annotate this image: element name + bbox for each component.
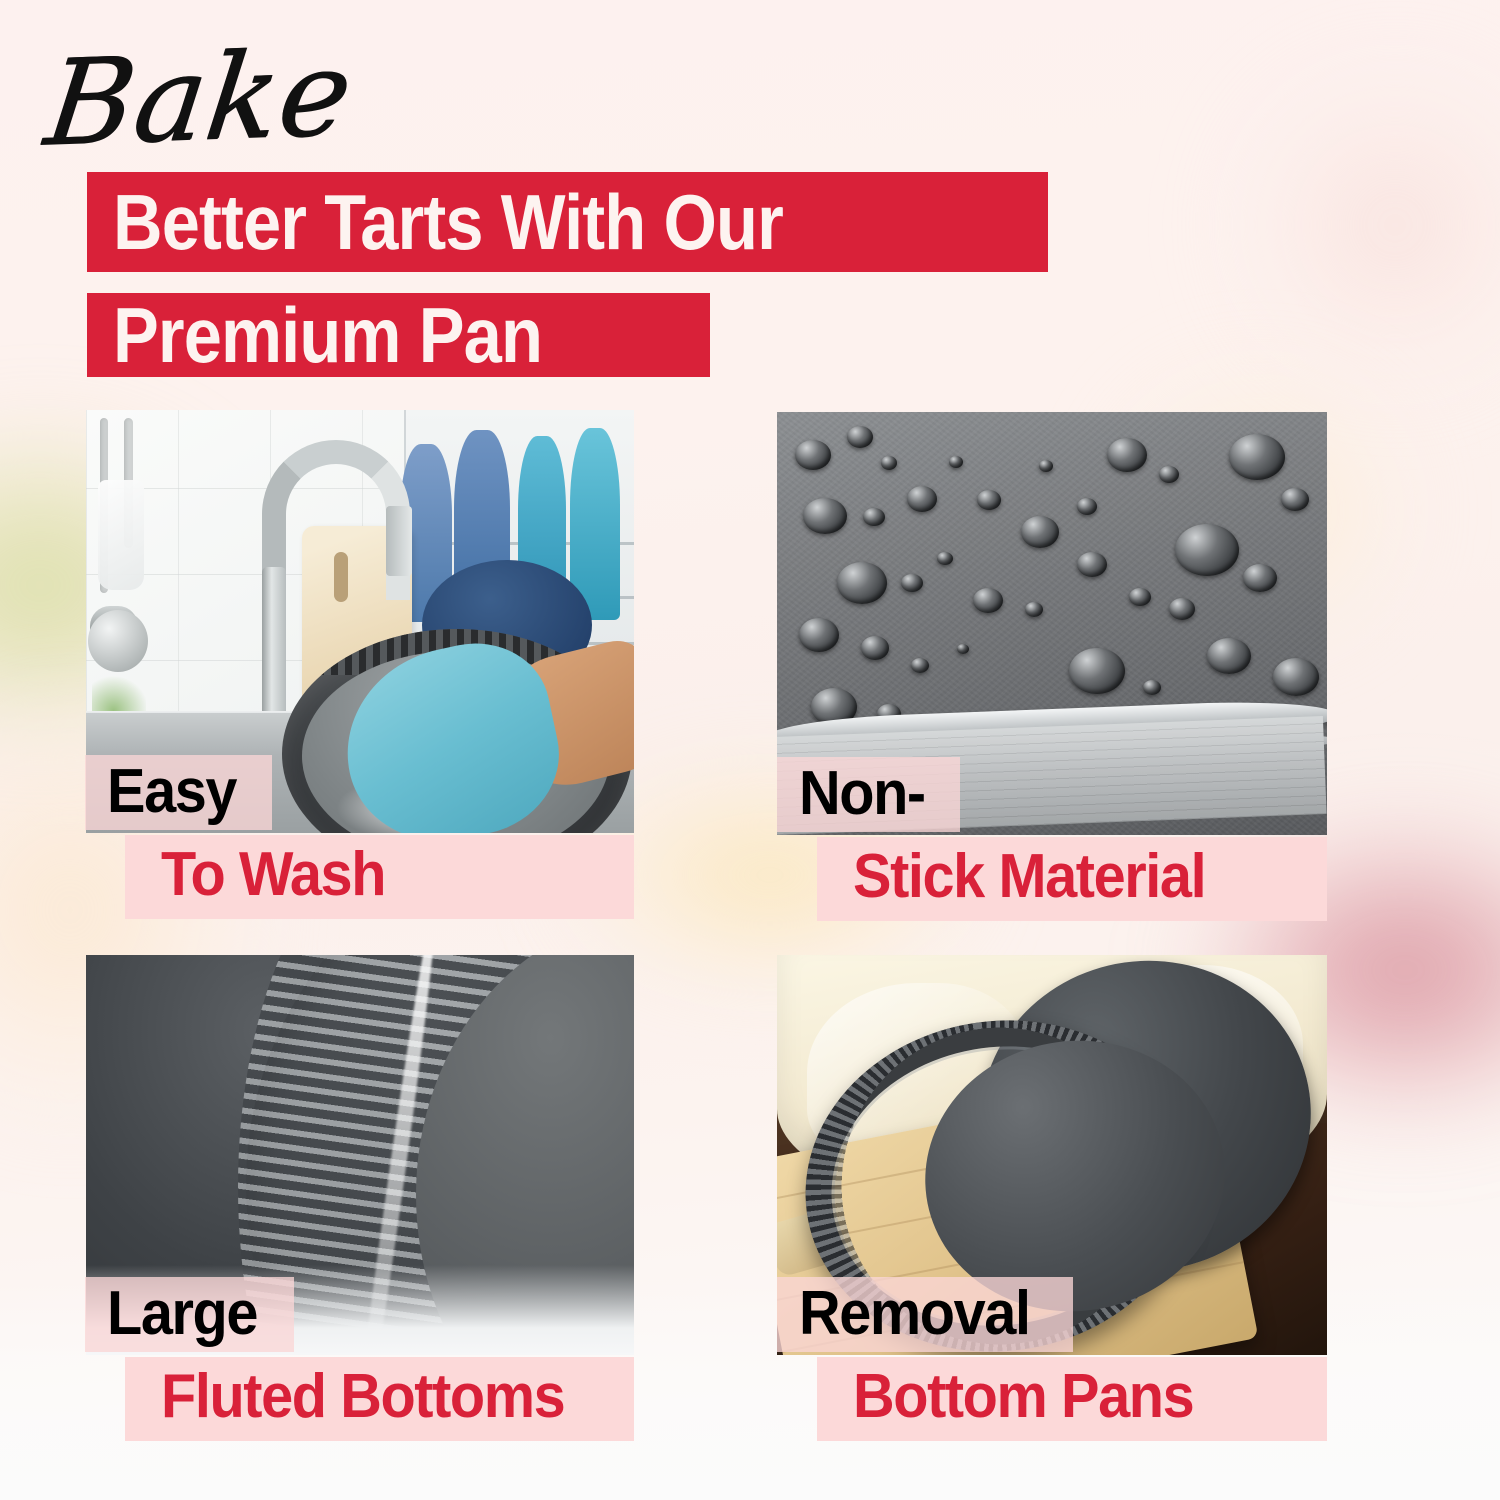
script-word-bake: Bake bbox=[40, 34, 358, 162]
card-title-top-text: Non- bbox=[799, 761, 925, 826]
card-title-bottom-stick-material: Stick Material bbox=[817, 837, 1327, 921]
card-title-bottom-text: Bottom Pans bbox=[853, 1363, 1268, 1431]
card-title-top-text: Easy bbox=[107, 759, 236, 824]
card-title-top-easy: Easy bbox=[85, 755, 272, 830]
headline-band-2: Premium Pan bbox=[87, 293, 710, 377]
card-title-top-non: Non- bbox=[777, 757, 960, 832]
feature-card-non-stick-material[interactable]: Non- Stick Material bbox=[777, 412, 1327, 928]
card-title-top-text: Large bbox=[107, 1281, 257, 1346]
feature-card-removable-bottom-pans[interactable]: Removal Bottom Pans bbox=[777, 955, 1327, 1450]
card-title-bottom-text: Fluted Bottoms bbox=[161, 1363, 575, 1431]
feature-card-large-fluted-bottoms[interactable]: Large Fluted Bottoms bbox=[86, 955, 634, 1450]
card-title-top-removal: Removal bbox=[777, 1277, 1073, 1352]
card-title-bottom-bottom-pans: Bottom Pans bbox=[817, 1357, 1327, 1441]
card-title-bottom-text: To Wash bbox=[161, 841, 575, 909]
card-title-top-large: Large bbox=[85, 1277, 294, 1352]
headline-text-1: Better Tarts With Our bbox=[113, 183, 783, 261]
feature-card-easy-to-wash[interactable]: Easy To Wash bbox=[86, 410, 634, 926]
card-title-bottom-to-wash: To Wash bbox=[125, 835, 634, 919]
headline-band-1: Better Tarts With Our bbox=[87, 172, 1048, 272]
card-title-bottom-fluted-bottoms: Fluted Bottoms bbox=[125, 1357, 634, 1441]
card-title-top-text: Removal bbox=[799, 1281, 1030, 1346]
headline-text-2: Premium Pan bbox=[113, 296, 542, 374]
card-title-bottom-text: Stick Material bbox=[853, 843, 1268, 911]
